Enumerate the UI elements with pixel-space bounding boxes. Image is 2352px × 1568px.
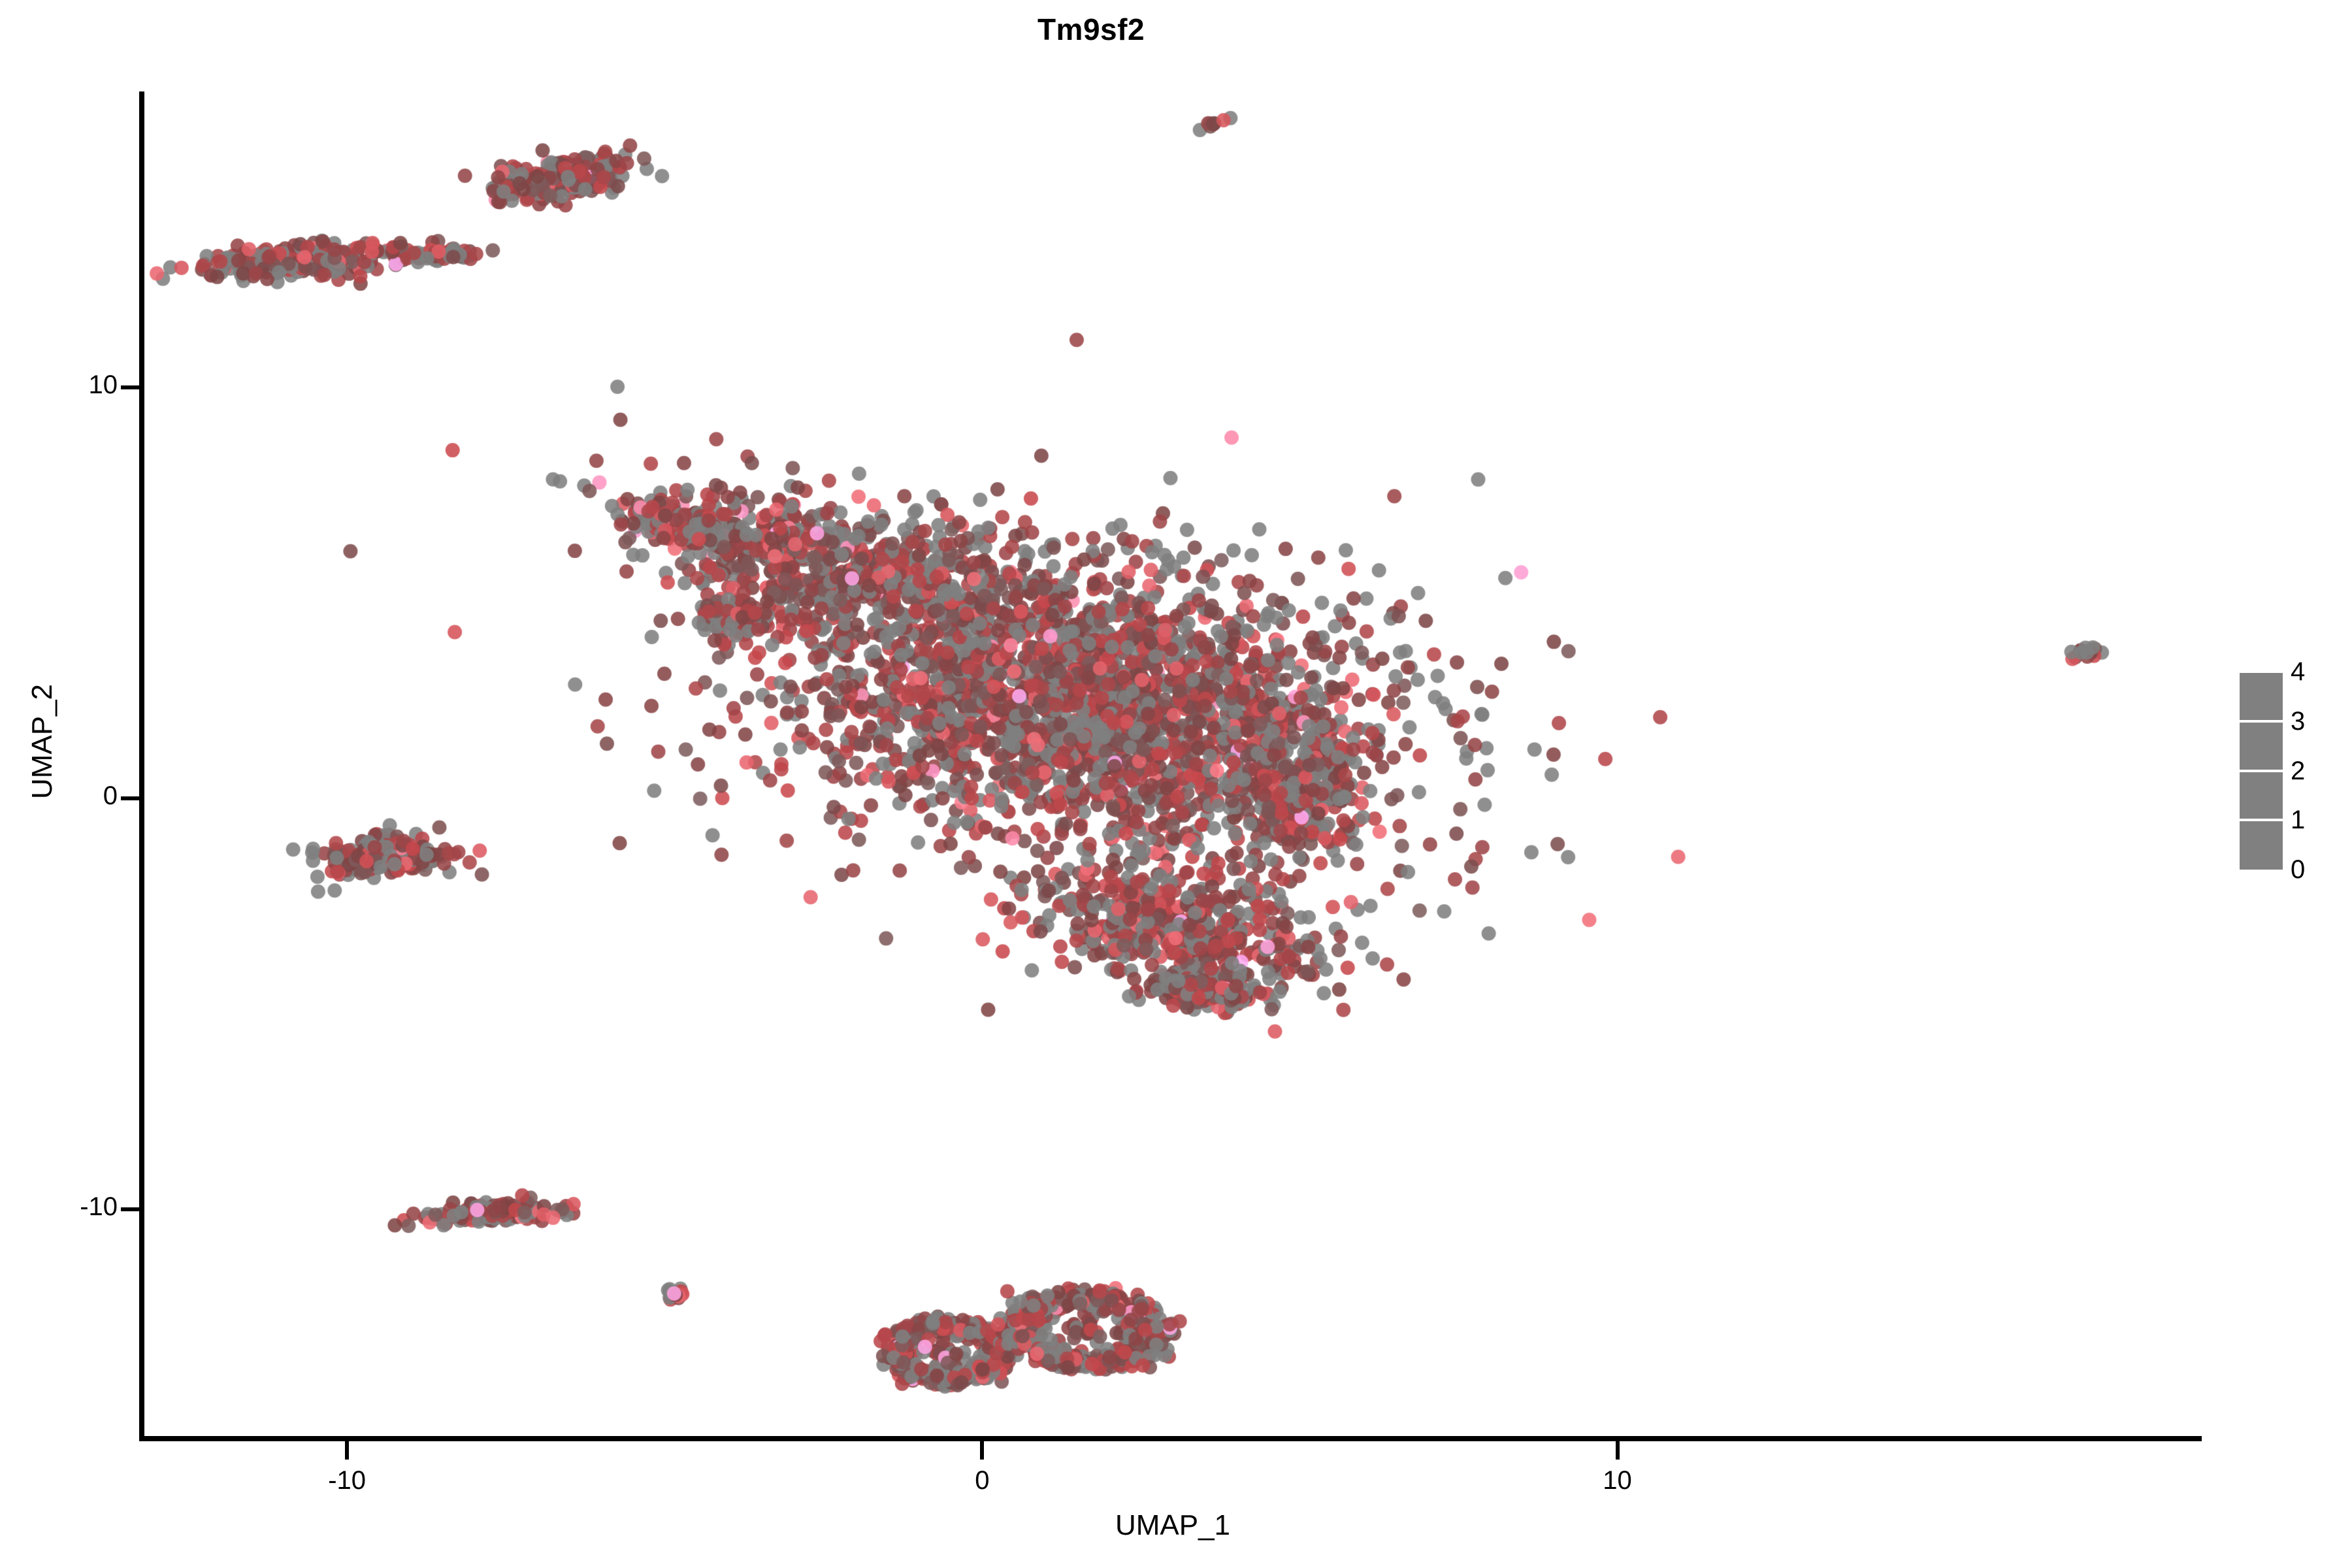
x-tick-mark: [980, 1441, 984, 1460]
y-tick-label: 0: [103, 781, 118, 811]
colorbar-tick-mark: [2240, 770, 2283, 772]
plot-panel: [144, 91, 2202, 1439]
colorbar-tick-label: 4: [2291, 659, 2305, 685]
y-axis-line: [139, 91, 144, 1441]
x-tick-label: 0: [975, 1466, 989, 1495]
x-axis-title: UMAP_1: [144, 1509, 2202, 1542]
colorbar-tick-label: 3: [2291, 708, 2305, 734]
umap-feature-plot: Tm9sf2 -10010-10010 UMAP_1 UMAP_2 01234: [0, 0, 2352, 1568]
x-tick-mark: [345, 1441, 349, 1460]
colorbar-tick-mark: [2240, 720, 2283, 723]
colorbar-tick-mark: [2240, 670, 2283, 673]
colorbar-tick-label: 2: [2291, 758, 2305, 784]
y-tick-mark: [121, 1207, 139, 1211]
x-tick-mark: [1616, 1441, 1620, 1460]
y-tick-label: -10: [80, 1192, 118, 1222]
x-axis-line: [139, 1436, 2202, 1441]
y-axis-title: UMAP_2: [26, 559, 59, 924]
x-tick-label: 10: [1603, 1466, 1632, 1495]
colorbar-tick-mark: [2240, 819, 2283, 821]
y-tick-mark: [121, 385, 139, 389]
y-tick-label: 10: [89, 370, 118, 400]
x-tick-label: -10: [328, 1466, 366, 1495]
page-title: Tm9sf2: [0, 12, 2182, 47]
y-tick-mark: [121, 796, 139, 800]
colorbar-tick-label: 0: [2291, 857, 2305, 883]
scatter-point-layer: [144, 91, 2202, 1439]
colorbar-legend: 01234: [2234, 666, 2352, 882]
colorbar-tick-label: 1: [2291, 807, 2305, 833]
